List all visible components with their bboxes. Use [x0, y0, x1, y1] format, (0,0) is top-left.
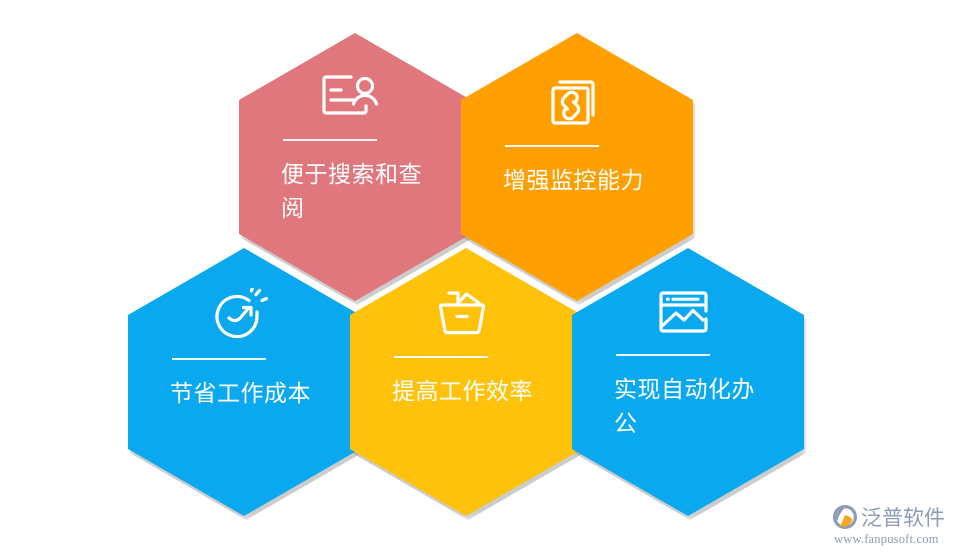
fanpu-leaf-logo-icon	[832, 504, 858, 530]
label-divider	[505, 145, 599, 147]
window-chart-icon	[606, 288, 762, 338]
hexagon-content: 便于搜索和查阅	[239, 33, 471, 301]
hexagon-label: 实现自动化办公	[614, 372, 766, 440]
logo-row: 泛普软件	[832, 503, 945, 531]
logo-company-name: 泛普软件	[861, 502, 945, 532]
hexagon-tile-monitoring[interactable]: 增强监控能力	[461, 33, 693, 301]
id-card-person-icon	[273, 73, 429, 123]
logo-website-url: www.fanpusoft.com	[834, 532, 939, 547]
label-divider	[172, 358, 266, 360]
hexagon-label: 增强监控能力	[503, 163, 655, 197]
label-divider	[394, 356, 488, 358]
label-divider	[283, 139, 377, 141]
brand-logo[interactable]: 泛普软件 www.fanpusoft.com	[832, 503, 952, 551]
basket-icon	[384, 288, 540, 340]
hexagon-label: 便于搜索和查阅	[281, 157, 433, 225]
hexagon-label: 节省工作成本	[170, 376, 322, 410]
hexagon-tile-cost-saving[interactable]: 节省工作成本	[128, 248, 360, 516]
hexagon-label: 提高工作效率	[392, 374, 544, 408]
infographic-canvas: 便于搜索和查阅 增强监控能力	[0, 0, 959, 558]
hexagon-tile-search[interactable]: 便于搜索和查阅	[239, 33, 471, 301]
hexagon-content: 节省工作成本	[128, 248, 360, 516]
gauge-arrow-icon	[162, 288, 318, 342]
hexagon-content: 增强监控能力	[461, 33, 693, 301]
linked-pages-icon	[495, 73, 651, 129]
label-divider	[616, 354, 710, 356]
